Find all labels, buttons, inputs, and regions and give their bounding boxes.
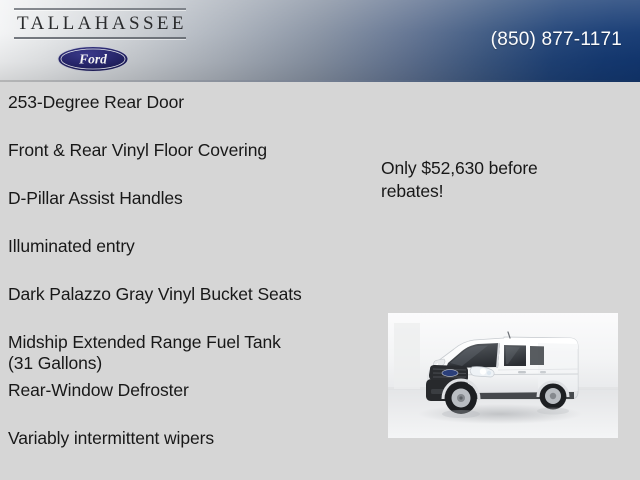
dealer-name: TALLAHASSEE — [14, 13, 186, 35]
svg-text:Ford: Ford — [78, 52, 107, 67]
list-item: 253-Degree Rear Door — [8, 92, 380, 140]
promo-flyer: TALLAHASSEE Ford (850) 877-1171 — [0, 0, 640, 480]
dealer-phone-number[interactable]: (850) 877-1171 — [491, 29, 622, 51]
ford-transit-cargo-van-photo — [388, 313, 618, 438]
header-bottom-edge — [0, 80, 640, 82]
ford-oval-logo-icon: Ford — [57, 45, 129, 73]
dealer-brand-lockup: TALLAHASSEE — [14, 8, 186, 39]
list-item: Rear-Window Defroster — [8, 380, 380, 428]
list-item: Illuminated entry — [8, 236, 380, 284]
vehicle-feature-list: 253-Degree Rear Door Front & Rear Vinyl … — [8, 92, 380, 476]
list-item: Variably intermittent wipers — [8, 428, 380, 476]
list-item: Midship Extended Range Fuel Tank (31 Gal… — [8, 332, 380, 380]
list-item: Front & Rear Vinyl Floor Covering — [8, 140, 380, 188]
brand-rule-bottom — [14, 37, 186, 39]
list-item: D-Pillar Assist Handles — [8, 188, 380, 236]
dealer-header: TALLAHASSEE Ford (850) 877-1171 — [0, 0, 640, 82]
list-item: Dark Palazzo Gray Vinyl Bucket Seats — [8, 284, 380, 332]
price-callout: Only $52,630 before rebates! — [381, 157, 631, 203]
brand-rule-top — [14, 8, 186, 10]
